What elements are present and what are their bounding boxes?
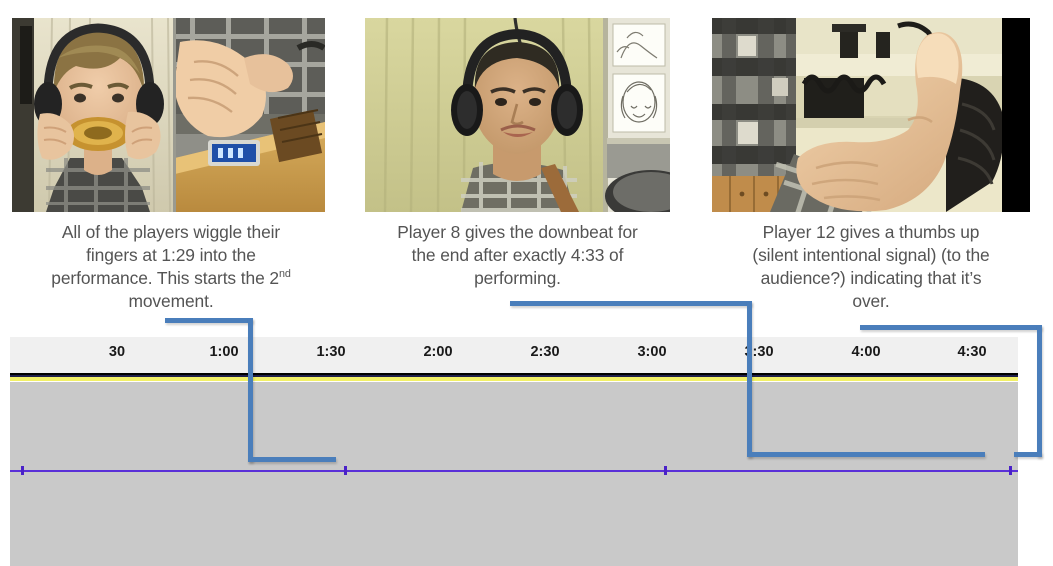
thumbnail-1 <box>12 18 325 212</box>
caption-1-ordinal-suffix: nd <box>279 268 291 280</box>
connector-1-top-segment <box>165 318 253 323</box>
caption-3: Player 12 gives a thumbs up (silent inte… <box>706 221 1036 314</box>
caption-1-line-1: All of the players wiggle their <box>6 221 336 244</box>
connector-1-vertical-segment <box>248 318 253 462</box>
caption-1-line-3-text: performance. This starts the 2 <box>51 268 279 288</box>
thumbnail-3-image <box>712 18 1030 212</box>
connector-2-top-segment <box>510 301 752 306</box>
thumbnail-3 <box>712 18 1030 212</box>
connector-3-top-segment <box>860 325 1042 330</box>
ruler-label-4-30: 4:30 <box>957 344 986 360</box>
ruler-label-2-00: 2:00 <box>423 344 452 360</box>
caption-2-line-3: performing. <box>360 267 675 290</box>
ruler-label-1-30: 1:30 <box>316 344 345 360</box>
audio-marker[interactable] <box>664 466 667 475</box>
connector-2-vertical-segment <box>747 301 752 457</box>
connector-3-bottom-segment <box>1014 452 1042 457</box>
audio-marker[interactable] <box>1009 466 1012 475</box>
connector-2-bottom-segment <box>747 452 985 457</box>
connector-1-bottom-segment <box>248 457 336 462</box>
thumbnail-2-image <box>365 18 670 212</box>
caption-1-line-3: performance. This starts the 2nd <box>6 267 336 290</box>
audio-marker[interactable] <box>344 466 347 475</box>
ruler-label-1-00: 1:00 <box>209 344 238 360</box>
caption-3-line-3: audience?) indicating that it’s <box>706 267 1036 290</box>
audio-track-body[interactable] <box>10 382 1018 566</box>
audio-marker[interactable] <box>21 466 24 475</box>
caption-3-line-2: (silent intentional signal) (to the <box>706 244 1036 267</box>
caption-2: Player 8 gives the downbeat for the end … <box>360 221 675 290</box>
ruler-label-2-30: 2:30 <box>530 344 559 360</box>
ruler-label-3-00: 3:00 <box>637 344 666 360</box>
ruler-label-30: 30 <box>109 344 125 360</box>
ruler-label-4-00: 4:00 <box>851 344 880 360</box>
slide-canvas: All of the players wiggle their fingers … <box>0 0 1053 566</box>
caption-2-line-1: Player 8 gives the downbeat for <box>360 221 675 244</box>
audio-waveform-line <box>10 470 1018 472</box>
caption-1-line-4: movement. <box>6 290 336 313</box>
thumbnail-2 <box>365 18 670 212</box>
caption-1-line-2: fingers at 1:29 into the <box>6 244 336 267</box>
caption-3-line-4: over. <box>706 290 1036 313</box>
connector-3-vertical-segment <box>1037 325 1042 457</box>
timeline-yellow-band <box>10 377 1018 381</box>
caption-1: All of the players wiggle their fingers … <box>6 221 336 314</box>
caption-2-line-2: the end after exactly 4:33 of <box>360 244 675 267</box>
thumbnail-1-image <box>12 18 325 212</box>
caption-3-line-1: Player 12 gives a thumbs up <box>706 221 1036 244</box>
